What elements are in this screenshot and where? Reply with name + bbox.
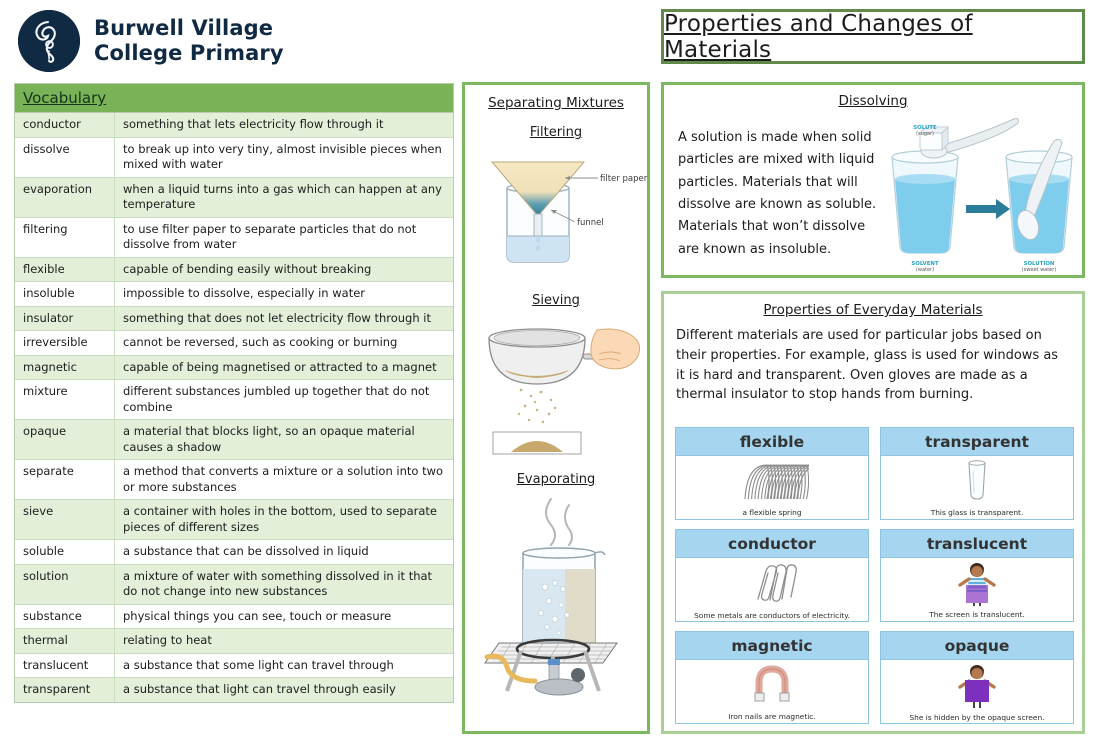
- vocabulary-row: separatea method that converts a mixture…: [15, 460, 453, 500]
- horseshoe-magnet-icon: [749, 663, 795, 707]
- vocabulary-row: conductorsomething that lets electricity…: [15, 113, 453, 138]
- school-name-line2: College Primary: [94, 41, 284, 66]
- property-card-caption: She is hidden by the opaque screen.: [881, 713, 1073, 722]
- vocabulary-definition: a material that blocks light, so an opaq…: [115, 420, 453, 459]
- vocabulary-definition: a container with holes in the bottom, us…: [115, 500, 453, 539]
- vocabulary-table: Vocabulary conductorsomething that lets …: [14, 83, 454, 703]
- school-name: Burwell Village College Primary: [94, 16, 284, 66]
- evaporating-heading: Evaporating: [465, 472, 647, 487]
- vocabulary-row: dissolveto break up into very tiny, almo…: [15, 138, 453, 178]
- property-card: conductorSome metals are conductors of e…: [675, 529, 869, 622]
- property-card-label: conductor: [728, 535, 816, 553]
- school-crest-icon: [18, 10, 80, 72]
- property-card-body: a flexible spring: [676, 456, 868, 519]
- property-card-header: opaque: [881, 632, 1073, 660]
- paper-clips-icon: [746, 561, 798, 607]
- vocabulary-definition: a method that converts a mixture or a so…: [115, 460, 453, 499]
- solute-solvent-solution-diagram: SOLUTE (sugar) SOLVENT (water) SOLUTION …: [878, 113, 1083, 273]
- beaker-bunsen-burner-diagram: [465, 491, 647, 696]
- property-card-label: transparent: [925, 433, 1029, 451]
- property-card-label: translucent: [927, 535, 1027, 553]
- filtering-heading: Filtering: [465, 125, 647, 140]
- vocabulary-row: magneticcapable of being magnetised or a…: [15, 356, 453, 381]
- property-card-header: conductor: [676, 530, 868, 558]
- property-card-body: The screen is translucent.: [881, 558, 1073, 621]
- property-card-body: This glass is transparent.: [881, 456, 1073, 519]
- vocabulary-term: insoluble: [15, 282, 115, 306]
- vocabulary-row: substancephysical things you can see, to…: [15, 605, 453, 630]
- vocabulary-definition: something that lets electricity flow thr…: [115, 113, 453, 137]
- solvent-sublabel: (water): [916, 267, 934, 273]
- property-card: transparentThis glass is transparent.: [880, 427, 1074, 520]
- property-card-caption: a flexible spring: [676, 508, 868, 517]
- property-card-header: translucent: [881, 530, 1073, 558]
- property-card-label: opaque: [945, 637, 1010, 655]
- vocabulary-term: separate: [15, 460, 115, 499]
- property-card-label: magnetic: [731, 637, 812, 655]
- property-card-caption: The screen is translucent.: [881, 610, 1073, 619]
- dissolving-panel: Dissolving A solution is made when solid…: [661, 82, 1085, 278]
- vocabulary-term: solution: [15, 565, 115, 604]
- property-card-caption: Iron nails are magnetic.: [676, 712, 868, 721]
- vocabulary-row: opaquea material that blocks light, so a…: [15, 420, 453, 460]
- page-title-text: Properties and Changes of Materials: [664, 11, 1082, 63]
- school-name-line1: Burwell Village: [94, 16, 284, 41]
- property-card-body: She is hidden by the opaque screen.: [881, 660, 1073, 723]
- vocabulary-definition: impossible to dissolve, especially in wa…: [115, 282, 453, 306]
- funnel-label: funnel: [577, 218, 604, 228]
- vocabulary-row: thermalrelating to heat: [15, 629, 453, 654]
- filter-paper-label: filter paper: [600, 174, 648, 184]
- school-header: Burwell Village College Primary: [18, 6, 438, 76]
- property-card-header: transparent: [881, 428, 1073, 456]
- vocabulary-definition: to use filter paper to separate particle…: [115, 218, 453, 257]
- vocabulary-row: evaporationwhen a liquid turns into a ga…: [15, 178, 453, 218]
- property-card-caption: This glass is transparent.: [881, 508, 1073, 517]
- vocabulary-term: transparent: [15, 678, 115, 702]
- vocabulary-term: flexible: [15, 258, 115, 282]
- page-title: Properties and Changes of Materials: [661, 9, 1085, 64]
- vocabulary-term: thermal: [15, 629, 115, 653]
- vocabulary-term: evaporation: [15, 178, 115, 217]
- vocabulary-row: transparenta substance that light can tr…: [15, 678, 453, 702]
- vocabulary-definition: a substance that can be dissolved in liq…: [115, 540, 453, 564]
- vocabulary-definition: a substance that light can travel throug…: [115, 678, 453, 702]
- vocabulary-definition: physical things you can see, touch or me…: [115, 605, 453, 629]
- vocabulary-term: soluble: [15, 540, 115, 564]
- vocabulary-term: translucent: [15, 654, 115, 678]
- vocabulary-definition: different substances jumbled up together…: [115, 380, 453, 419]
- dissolving-heading: Dissolving: [664, 93, 1082, 109]
- vocabulary-term: substance: [15, 605, 115, 629]
- child-behind-translucent-screen-icon: [956, 561, 998, 611]
- solution-sublabel: (sweet water): [1022, 267, 1057, 273]
- vocabulary-term: irreversible: [15, 331, 115, 355]
- property-card: translucentThe screen is translucent.: [880, 529, 1074, 622]
- vocabulary-row: solutiona mixture of water with somethin…: [15, 565, 453, 605]
- separating-mixtures-panel: Separating Mixtures Filtering: [462, 82, 650, 734]
- vocabulary-term: dissolve: [15, 138, 115, 177]
- vocabulary-definition: a substance that some light can travel t…: [115, 654, 453, 678]
- vocabulary-row: solublea substance that can be dissolved…: [15, 540, 453, 565]
- property-card: flexiblea flexible spring: [675, 427, 869, 520]
- property-card-header: magnetic: [676, 632, 868, 660]
- drinking-glass-icon: [962, 459, 992, 505]
- vocabulary-term: opaque: [15, 420, 115, 459]
- dissolving-body: A solution is made when solid particles …: [678, 127, 878, 261]
- vocabulary-definition: to break up into very tiny, almost invis…: [115, 138, 453, 177]
- property-card-caption: Some metals are conductors of electricit…: [676, 611, 868, 620]
- vocabulary-row: translucenta substance that some light c…: [15, 654, 453, 679]
- property-card-body: Some metals are conductors of electricit…: [676, 558, 868, 621]
- sieving-heading: Sieving: [465, 293, 647, 308]
- vocabulary-definition: capable of being magnetised or attracted…: [115, 356, 453, 380]
- vocabulary-term: insulator: [15, 307, 115, 331]
- vocabulary-term: filtering: [15, 218, 115, 257]
- vocabulary-row: filteringto use filter paper to separate…: [15, 218, 453, 258]
- property-card: magneticIron nails are magnetic.: [675, 631, 869, 724]
- vocabulary-row: mixturedifferent substances jumbled up t…: [15, 380, 453, 420]
- vocabulary-row: insolubleimpossible to dissolve, especia…: [15, 282, 453, 307]
- vocabulary-definition: capable of bending easily without breaki…: [115, 258, 453, 282]
- separating-mixtures-heading: Separating Mixtures: [465, 95, 647, 111]
- vocabulary-row: sievea container with holes in the botto…: [15, 500, 453, 540]
- property-card: opaqueShe is hidden by the opaque screen…: [880, 631, 1074, 724]
- sieve-hand-diagram: [465, 310, 647, 460]
- slinky-spring-icon: [735, 459, 809, 507]
- vocabulary-heading: Vocabulary: [15, 84, 453, 113]
- vocabulary-definition: a mixture of water with something dissol…: [115, 565, 453, 604]
- funnel-filter-diagram: filter paper funnel: [465, 144, 647, 279]
- vocabulary-definition: cannot be reversed, such as cooking or b…: [115, 331, 453, 355]
- vocabulary-definition: something that does not let electricity …: [115, 307, 453, 331]
- properties-body: Different materials are used for particu…: [676, 326, 1070, 405]
- properties-heading: Properties of Everyday Materials: [664, 302, 1082, 318]
- vocabulary-term: mixture: [15, 380, 115, 419]
- vocabulary-row: flexiblecapable of bending easily withou…: [15, 258, 453, 283]
- vocabulary-term: sieve: [15, 500, 115, 539]
- properties-panel: Properties of Everyday Materials Differe…: [661, 291, 1085, 734]
- vocabulary-term: magnetic: [15, 356, 115, 380]
- child-behind-opaque-screen-icon: [956, 663, 998, 713]
- vocabulary-term: conductor: [15, 113, 115, 137]
- vocabulary-heading-text: Vocabulary: [23, 89, 106, 107]
- vocabulary-definition: when a liquid turns into a gas which can…: [115, 178, 453, 217]
- property-card-body: Iron nails are magnetic.: [676, 660, 868, 723]
- property-card-label: flexible: [740, 433, 804, 451]
- vocabulary-row: insulatorsomething that does not let ele…: [15, 307, 453, 332]
- vocabulary-row: irreversiblecannot be reversed, such as …: [15, 331, 453, 356]
- vocabulary-definition: relating to heat: [115, 629, 453, 653]
- solute-sublabel: (sugar): [916, 131, 934, 137]
- property-card-header: flexible: [676, 428, 868, 456]
